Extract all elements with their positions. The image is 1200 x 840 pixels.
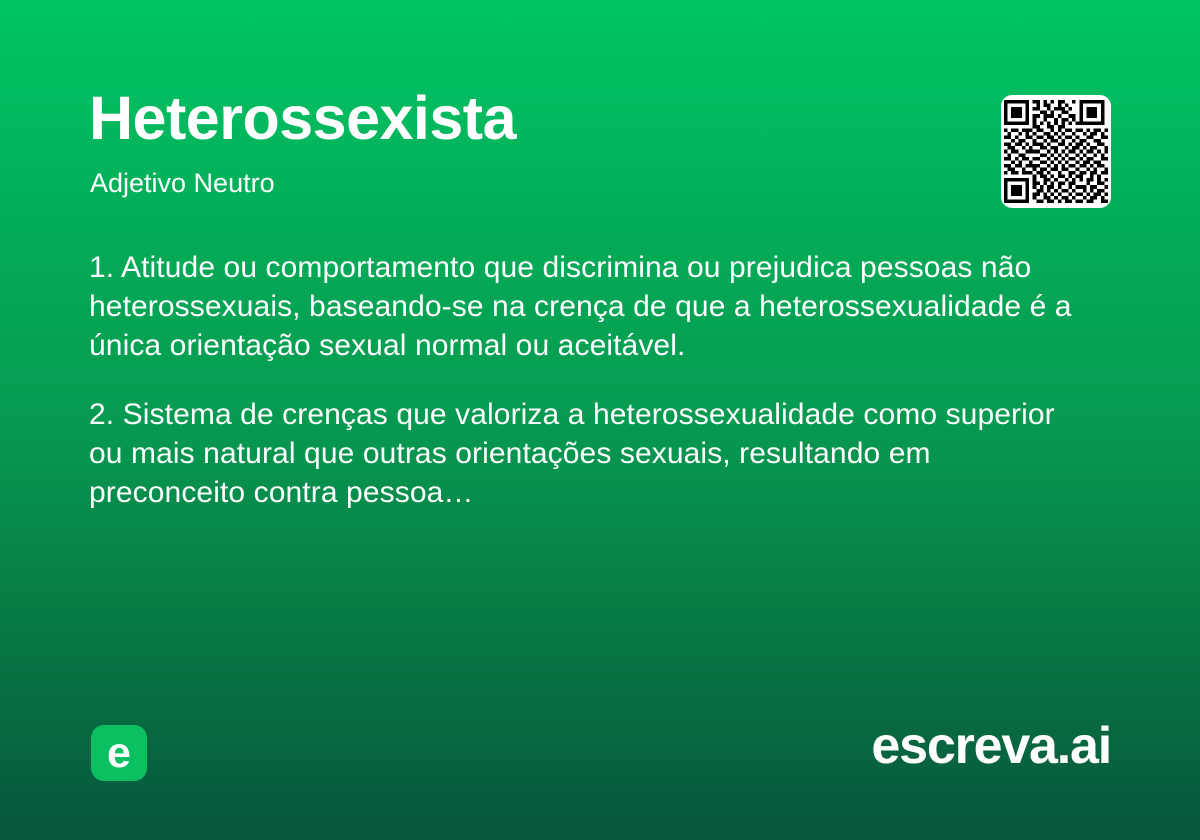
dictionary-entry-card: Heterossexista Adjetivo Neutro 1. Atitud… xyxy=(0,0,1200,840)
definition-item: 2. Sistema de crenças que valoriza a het… xyxy=(89,395,1079,512)
page-title: Heterossexista xyxy=(89,88,516,149)
definition-list: 1. Atitude ou comportamento que discrimi… xyxy=(89,248,1079,512)
definition-item: 1. Atitude ou comportamento que discrimi… xyxy=(89,248,1079,365)
qr-code-panel[interactable] xyxy=(1001,95,1111,208)
brand-wordmark: escreva.ai xyxy=(871,718,1111,775)
brand-logo-letter: e xyxy=(91,725,147,781)
qr-code-icon[interactable] xyxy=(1004,100,1108,203)
brand-logo-mark: e xyxy=(91,725,147,781)
part-of-speech-label: Adjetivo Neutro xyxy=(90,167,275,199)
